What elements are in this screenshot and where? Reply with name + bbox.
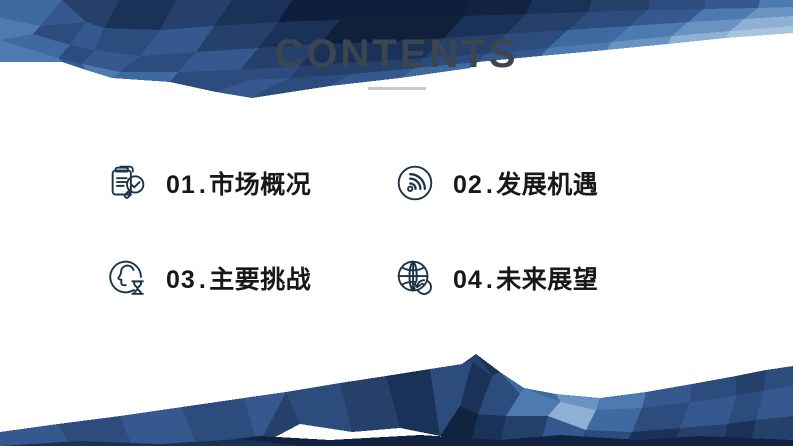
contents-item-02-separator: .: [483, 171, 496, 199]
contents-item-01-text: 市场概况: [209, 171, 311, 199]
contents-item-04-number: 04: [453, 266, 483, 294]
contents-item-03-separator: .: [196, 266, 209, 294]
contents-item-01-label: 01.市场概况: [166, 165, 311, 201]
contents-item-03-label: 03.主要挑战: [166, 260, 311, 296]
page-title: CONTENTS: [0, 34, 793, 74]
contents-item-01-separator: .: [196, 171, 209, 199]
contents-item-03-text: 主要挑战: [209, 266, 311, 294]
contents-item-01[interactable]: 01.市场概况: [104, 152, 391, 214]
title-underline-rule: [368, 87, 426, 90]
globe-refresh-icon: [391, 254, 439, 302]
slide-canvas: CONTENTS 01.市场概况: [0, 0, 793, 446]
head-hourglass-icon: [104, 254, 152, 302]
contents-item-02-number: 02: [453, 171, 483, 199]
contents-item-04-label: 04.未来展望: [453, 260, 598, 296]
contents-item-01-number: 01: [166, 171, 196, 199]
contents-item-04[interactable]: 04.未来展望: [391, 247, 689, 309]
contents-grid: 01.市场概况 02.发展机遇: [104, 152, 689, 342]
contents-item-02[interactable]: 02.发展机遇: [391, 152, 689, 214]
title-block: CONTENTS: [0, 34, 793, 90]
clipboard-search-check-icon: [104, 159, 152, 207]
contents-item-02-label: 02.发展机遇: [453, 165, 598, 201]
contents-item-03[interactable]: 03.主要挑战: [104, 247, 391, 309]
signal-wifi-circle-icon: [391, 159, 439, 207]
contents-item-04-text: 未来展望: [496, 266, 598, 294]
contents-item-03-number: 03: [166, 266, 196, 294]
contents-item-02-text: 发展机遇: [496, 171, 598, 199]
contents-item-04-separator: .: [483, 266, 496, 294]
bottom-decoration-polygons: [0, 336, 793, 446]
